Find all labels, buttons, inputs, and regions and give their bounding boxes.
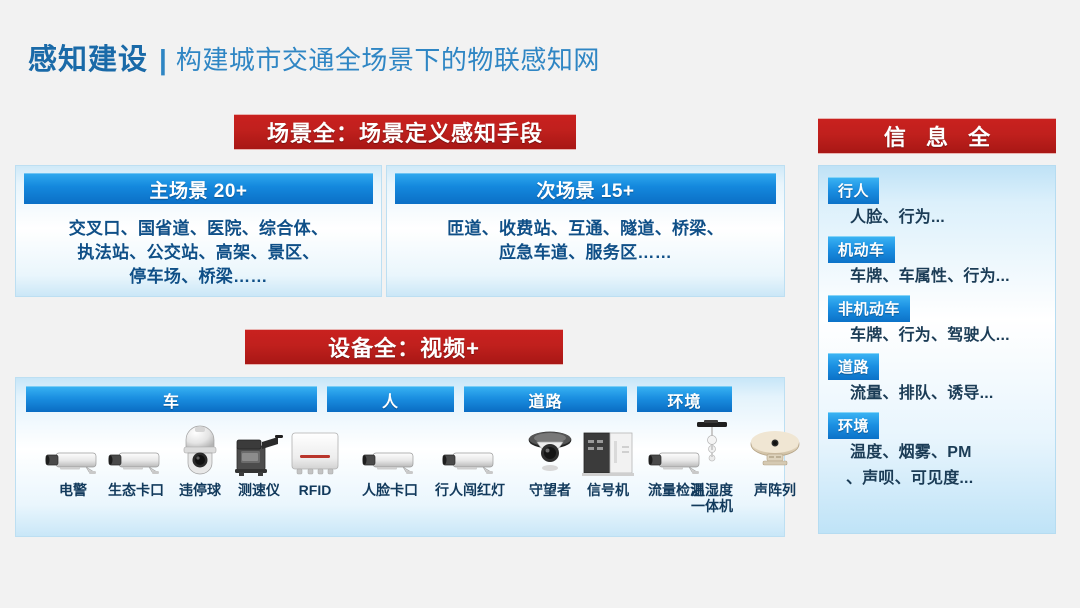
acoustic-array-icon — [747, 414, 803, 478]
info-text-non-motor-vehicle: 车牌、行为、驾驶人... — [828, 322, 1046, 352]
device-tab-environment[interactable]: 环境 — [637, 386, 732, 412]
device-tab-road[interactable]: 道路 — [464, 386, 627, 412]
sub-scene-header: 次场景 15+ — [395, 173, 776, 204]
info-tag-environment: 环境 — [828, 412, 879, 439]
device-item-label: 声阵列 — [754, 482, 796, 498]
info-tag-non-motor-vehicle: 非机动车 — [828, 295, 910, 322]
ptz-dome-camera-icon — [176, 414, 224, 478]
device-item-label: 电警 — [59, 482, 87, 498]
device-item[interactable]: RFID — [282, 414, 348, 498]
device-item-label: 生态卡口 — [108, 482, 164, 498]
page-title-main: 感知建设 — [28, 36, 148, 78]
box-camera-icon — [105, 414, 167, 478]
slide-root: 感知建设 | 构建城市交通全场景下的物联感知网 场景全：场景定义感知手段 设备全… — [0, 0, 1080, 608]
info-group-environment: 环境 温度、烟雾、PM 、声呗、可见度... — [828, 412, 1046, 495]
title-divider: | — [159, 44, 167, 76]
info-group-pedestrian: 行人 人脸、行为... — [828, 177, 1046, 234]
main-scene-panel: 主场景 20+ 交叉口、国省道、医院、综合体、 执法站、公交站、高架、景区、 停… — [15, 165, 382, 297]
sub-scene-panel: 次场景 15+ 匝道、收费站、互通、隧道、桥梁、 应急车道、服务区…… — [386, 165, 785, 297]
info-text-pedestrian: 人脸、行为... — [828, 204, 1046, 234]
info-panel: 行人 人脸、行为... 机动车 车牌、车属性、行为... 非机动车 车牌、行为、… — [818, 165, 1056, 534]
device-section-banner: 设备全：视频+ — [245, 329, 563, 365]
box-camera-icon — [42, 414, 104, 478]
info-text-environment: 温度、烟雾、PM — [828, 439, 1046, 469]
device-item[interactable]: 违停球 — [168, 414, 232, 498]
signal-cabinet-icon — [578, 414, 638, 478]
device-item-label: 违停球 — [179, 482, 221, 498]
device-item[interactable]: 人脸卡口 — [352, 414, 428, 498]
info-tag-pedestrian: 行人 — [828, 177, 879, 204]
device-item-label: 温湿度 一体机 — [691, 482, 733, 514]
device-item[interactable]: 声阵列 — [742, 414, 808, 498]
info-text-motor-vehicle: 车牌、车属性、行为... — [828, 263, 1046, 293]
info-tag-road: 道路 — [828, 353, 879, 380]
info-section-banner: 信 息 全 — [818, 118, 1056, 154]
device-item[interactable]: 行人闯红灯 — [424, 414, 516, 498]
box-camera-icon — [359, 414, 421, 478]
device-item-label: 行人闯红灯 — [435, 482, 505, 498]
device-panel: 车 人 道路 环境 电警 生态卡口 — [15, 377, 785, 537]
device-item-label: 测速仪 — [238, 482, 280, 498]
scene-section-banner: 场景全：场景定义感知手段 — [234, 114, 576, 150]
device-item[interactable]: 温湿度 一体机 — [676, 414, 748, 514]
device-item-label: 人脸卡口 — [362, 482, 418, 498]
device-tab-person[interactable]: 人 — [327, 386, 454, 412]
device-item-label: 信号机 — [587, 482, 629, 498]
page-title: 感知建设 | 构建城市交通全场景下的物联感知网 — [28, 36, 600, 78]
device-item[interactable]: 守望者 — [518, 414, 582, 498]
info-group-non-motor-vehicle: 非机动车 车牌、行为、驾驶人... — [828, 295, 1046, 352]
info-text-environment-cont: 、声呗、可见度... — [828, 469, 1046, 495]
box-camera-icon — [439, 414, 501, 478]
main-scene-body: 交叉口、国省道、医院、综合体、 执法站、公交站、高架、景区、 停车场、桥梁…… — [24, 217, 373, 289]
info-group-road: 道路 流量、排队、诱导... — [828, 353, 1046, 410]
rfid-reader-icon — [287, 414, 343, 478]
device-item[interactable]: 生态卡口 — [98, 414, 174, 498]
device-item-label: 守望者 — [529, 482, 571, 498]
device-icon-row: 电警 生态卡口 违停球 — [26, 414, 774, 534]
device-item-label: RFID — [299, 482, 332, 498]
device-item[interactable]: 信号机 — [576, 414, 640, 498]
sub-scene-body: 匝道、收费站、互通、隧道、桥梁、 应急车道、服务区…… — [395, 217, 776, 265]
dome-camera-icon — [524, 414, 576, 478]
info-tag-motor-vehicle: 机动车 — [828, 236, 895, 263]
temp-humidity-sensor-icon — [692, 414, 732, 478]
device-tab-vehicle[interactable]: 车 — [26, 386, 317, 412]
info-text-road: 流量、排队、诱导... — [828, 380, 1046, 410]
page-title-sub: 构建城市交通全场景下的物联感知网 — [176, 40, 600, 77]
info-group-motor-vehicle: 机动车 车牌、车属性、行为... — [828, 236, 1046, 293]
speed-radar-icon — [229, 414, 289, 478]
main-scene-header: 主场景 20+ — [24, 173, 373, 204]
device-tab-row: 车 人 道路 环境 — [26, 386, 774, 412]
